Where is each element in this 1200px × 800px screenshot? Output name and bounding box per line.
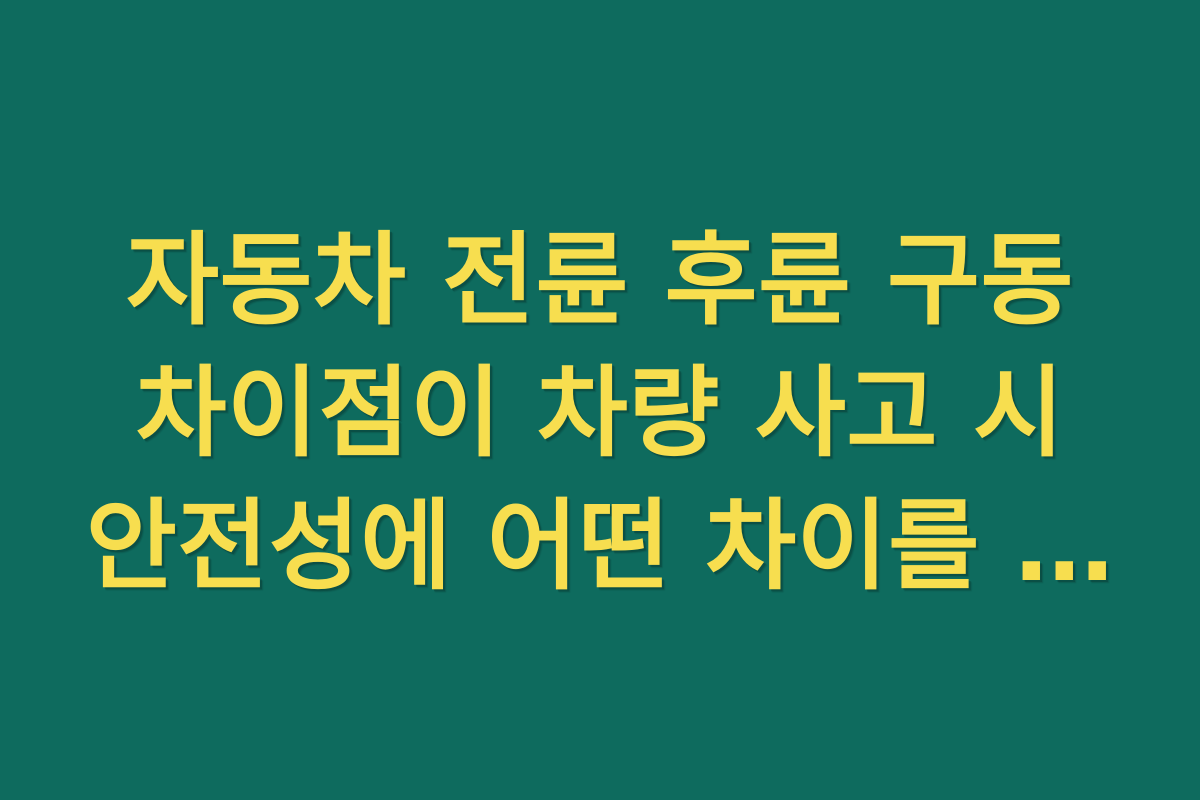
title-line-2: 차이점이 차량 사고 시	[50, 347, 1150, 480]
title-line-1: 자동차 전륜 후륜 구동	[50, 214, 1150, 347]
thumbnail-card: 자동차 전륜 후륜 구동 차이점이 차량 사고 시 안전성에 어떤 차이를 …	[0, 0, 1200, 800]
title-block: 자동차 전륜 후륜 구동 차이점이 차량 사고 시 안전성에 어떤 차이를 …	[50, 214, 1150, 613]
title-line-3: 안전성에 어떤 차이를 …	[50, 480, 1150, 613]
